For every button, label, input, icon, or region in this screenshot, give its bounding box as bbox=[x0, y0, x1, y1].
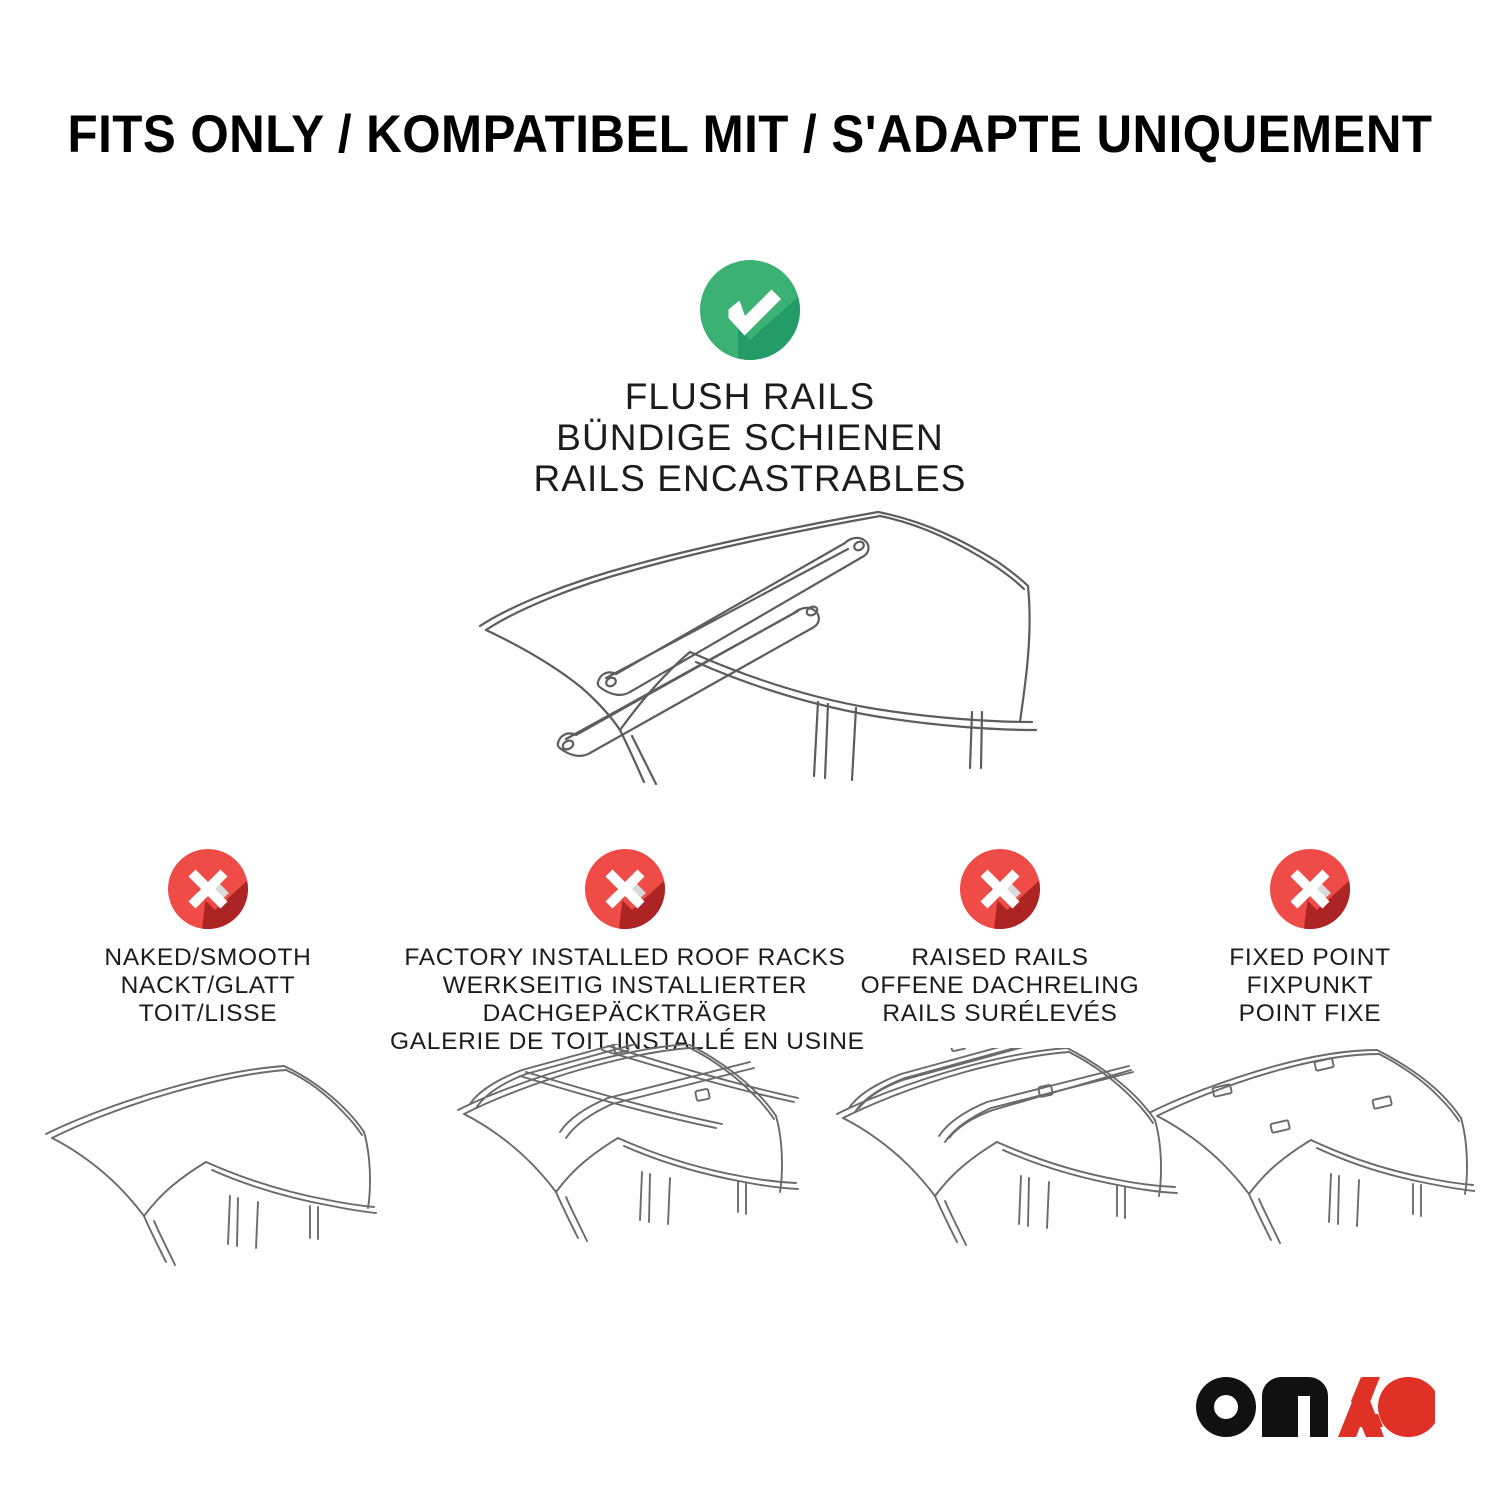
incompatible-item-raised-rails: RAISED RAILS OFFENE DACHRELING RAILS SUR… bbox=[840, 848, 1160, 1028]
check-circle-icon bbox=[698, 258, 802, 362]
label-line-de-2: DACHGEPÄCKTRÄGER bbox=[390, 1000, 860, 1028]
page-title: FITS ONLY / KOMPATIBEL MIT / S'ADAPTE UN… bbox=[53, 104, 1448, 165]
incompatible-section: NAKED/SMOOTH NACKT/GLATT TOIT/LISSE bbox=[0, 848, 1500, 1318]
label-line-en: FACTORY INSTALLED ROOF RACKS bbox=[390, 944, 860, 972]
incompatible-label-raised-rails: RAISED RAILS OFFENE DACHRELING RAILS SUR… bbox=[840, 944, 1160, 1028]
x-circle-icon bbox=[1269, 848, 1351, 930]
incompatible-item-factory-roof-racks: FACTORY INSTALLED ROOF RACKS WERKSEITIG … bbox=[390, 848, 860, 1056]
car-roof-factory-racks-illustration bbox=[450, 1044, 800, 1279]
car-roof-flush-rails-illustration bbox=[450, 486, 1050, 786]
car-roof-raised-rails-illustration bbox=[829, 1048, 1179, 1283]
label-line-fr: POINT FIXE bbox=[1165, 1000, 1455, 1028]
label-line-de-1: WERKSEITIG INSTALLIERTER bbox=[390, 972, 860, 1000]
car-roof-naked-illustration bbox=[38, 1048, 378, 1278]
x-circle-icon bbox=[584, 848, 666, 930]
label-line-de: OFFENE DACHRELING bbox=[840, 972, 1160, 1000]
label-line-fr: RAILS SURÉLEVÉS bbox=[840, 1000, 1160, 1028]
incompatible-item-naked-smooth: NAKED/SMOOTH NACKT/GLATT TOIT/LISSE bbox=[58, 848, 358, 1028]
label-line-de: FIXPUNKT bbox=[1165, 972, 1455, 1000]
label-line-de: NACKT/GLATT bbox=[58, 972, 358, 1000]
incompatible-label-naked-smooth: NAKED/SMOOTH NACKT/GLATT TOIT/LISSE bbox=[58, 944, 358, 1028]
incompatible-label-factory-roof-racks: FACTORY INSTALLED ROOF RACKS WERKSEITIG … bbox=[390, 944, 860, 1056]
label-line-en: NAKED/SMOOTH bbox=[58, 944, 358, 972]
compatible-section: FLUSH RAILS BÜNDIGE SCHIENEN RAILS ENCAS… bbox=[0, 258, 1500, 499]
label-line-en: FIXED POINT bbox=[1165, 944, 1455, 972]
compatible-label: FLUSH RAILS BÜNDIGE SCHIENEN RAILS ENCAS… bbox=[0, 376, 1500, 499]
x-circle-icon bbox=[959, 848, 1041, 930]
compatible-label-en: FLUSH RAILS bbox=[0, 376, 1500, 417]
x-circle-icon bbox=[167, 848, 249, 930]
incompatible-label-fixed-point: FIXED POINT FIXPUNKT POINT FIXE bbox=[1165, 944, 1455, 1028]
label-line-fr: TOIT/LISSE bbox=[58, 1000, 358, 1028]
omac-logo bbox=[1188, 1374, 1438, 1440]
car-roof-fixed-point-illustration bbox=[1145, 1048, 1475, 1283]
compatible-label-de: BÜNDIGE SCHIENEN bbox=[0, 417, 1500, 458]
label-line-en: RAISED RAILS bbox=[840, 944, 1160, 972]
incompatible-item-fixed-point: FIXED POINT FIXPUNKT POINT FIXE bbox=[1165, 848, 1455, 1028]
